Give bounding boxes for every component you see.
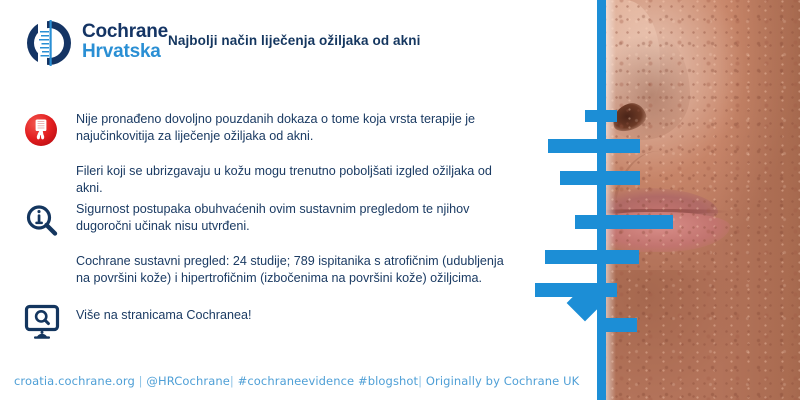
monitor-search-icon[interactable] bbox=[24, 303, 60, 344]
paragraph-review-details: Cochrane sustavni pregled: 24 studije; 7… bbox=[76, 253, 506, 288]
paragraph-fillers: Fileri koji se ubrizgavaju u kožu mogu t… bbox=[76, 163, 506, 198]
footer-handle[interactable]: @HRCochrane bbox=[146, 374, 229, 388]
finding-text-safety: Sigurnost postupaka obuhvaćenih ovim sus… bbox=[76, 201, 496, 236]
forest-plot-summary-diamond bbox=[567, 285, 604, 322]
acne-scar-face-photo bbox=[600, 0, 800, 400]
finding-text-evidence: Nije pronađeno dovoljno pouzdanih dokaza… bbox=[76, 111, 496, 146]
brand-line-cochrane: Cochrane bbox=[82, 22, 168, 42]
finding-text-more-info[interactable]: Više na stranicama Cochranea! bbox=[76, 307, 496, 324]
cochrane-logo-icon bbox=[24, 18, 74, 68]
footer-credit: Originally by Cochrane UK bbox=[426, 374, 579, 388]
footer-site-link[interactable]: croatia.cochrane.org bbox=[14, 374, 135, 388]
magnifier-info-icon bbox=[24, 203, 60, 244]
footer-bar: croatia.cochrane.org | @HRCochrane| #coc… bbox=[14, 374, 579, 388]
footer-separator-2: | bbox=[230, 374, 238, 388]
footer-separator-1: | bbox=[135, 374, 147, 388]
brand-wordmark: Cochrane Hrvatska bbox=[82, 22, 168, 62]
brand-line-hrvatska: Hrvatska bbox=[82, 42, 168, 62]
infographic-canvas: Cochrane Hrvatska Najbolji način liječen… bbox=[0, 0, 800, 400]
thumbs-down-icon bbox=[24, 113, 58, 152]
photo-left-fade bbox=[600, 0, 616, 400]
photo-acne-scar-texture-coarse bbox=[600, 0, 800, 400]
footer-hashtags[interactable]: #cochraneevidence #blogshot bbox=[238, 374, 419, 388]
page-title: Najbolji način liječenja ožiljaka od akn… bbox=[168, 33, 508, 48]
footer-separator-3: | bbox=[418, 374, 426, 388]
